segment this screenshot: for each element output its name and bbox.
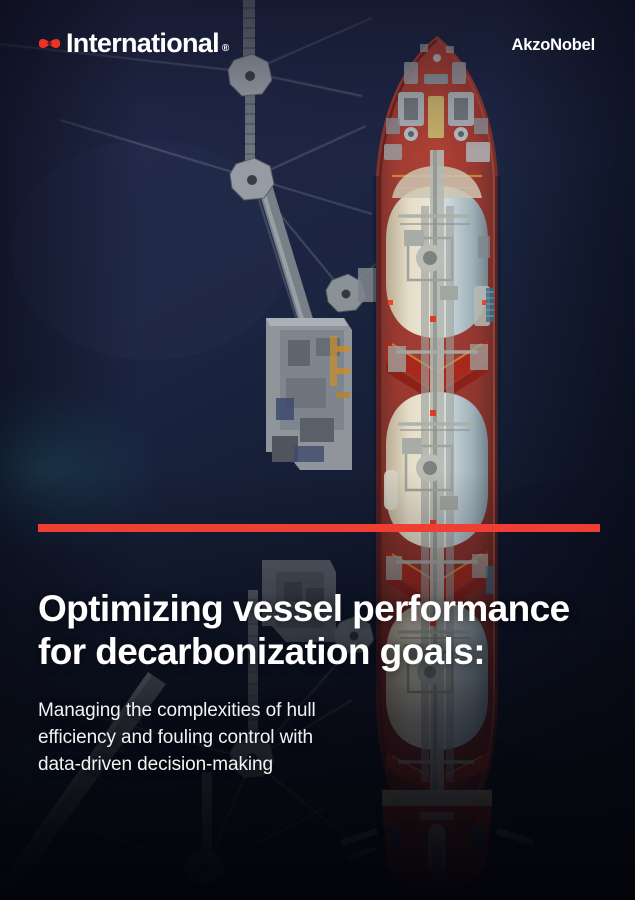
page-title-line-1: Optimizing vessel performance [38, 587, 618, 630]
propeller-icon [36, 30, 63, 57]
page-subtitle-line-3: data-driven decision-making [38, 752, 368, 779]
brand-akzonobel[interactable]: AkzoNobel [512, 36, 595, 55]
accent-rule [38, 524, 600, 532]
registered-trademark-mark: ® [222, 44, 229, 57]
brand-international[interactable]: International ® [36, 30, 229, 57]
page-subtitle-line-2: efficiency and fouling control with [38, 725, 368, 752]
page-subtitle-line-1: Managing the complexities of hull [38, 698, 368, 725]
page-subtitle: Managing the complexities of hull effici… [38, 698, 368, 779]
cover-page: International ® AkzoNobel Optimizing ves… [0, 0, 635, 900]
page-title-line-2: for decarbonization goals: [38, 630, 618, 673]
cover-header: International ® AkzoNobel [0, 0, 635, 96]
brand-wordmark-international: International [66, 30, 219, 57]
page-title: Optimizing vessel performance for decarb… [38, 587, 618, 674]
